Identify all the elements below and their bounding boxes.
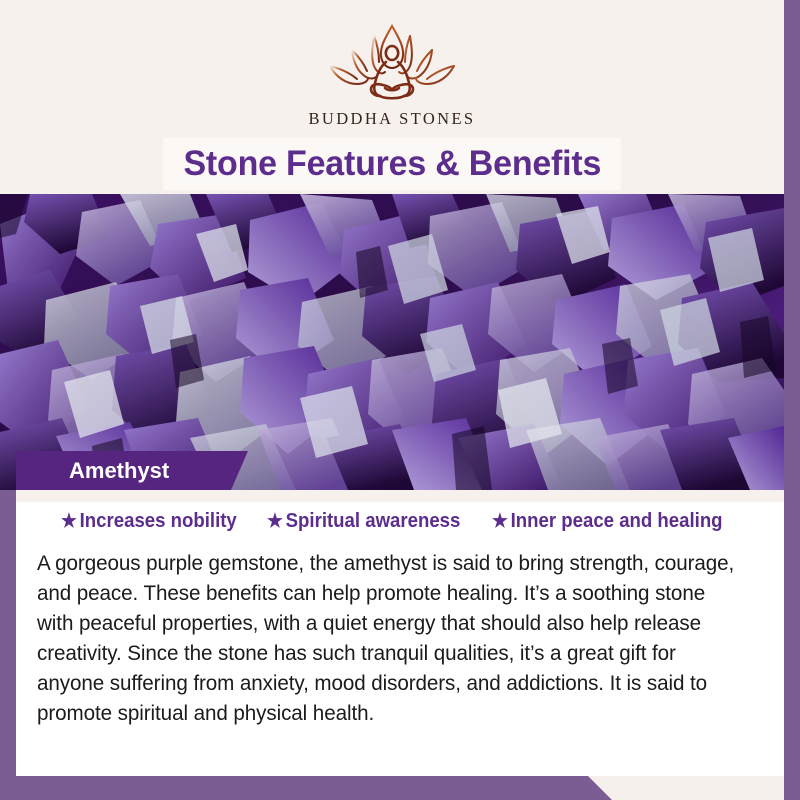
- stone-description: A gorgeous purple gemstone, the amethyst…: [37, 548, 744, 728]
- star-icon: ★: [492, 512, 508, 531]
- star-icon: ★: [61, 512, 77, 531]
- left-accent-bar: [0, 489, 16, 800]
- benefit-label-2: Spiritual awareness: [285, 510, 460, 533]
- benefit-item-3: ★ Inner peace and healing: [492, 510, 723, 533]
- brand-name: BUDDHA STONES: [308, 109, 475, 129]
- header-section: BUDDHA STONES Stone Features & Benefits: [0, 0, 784, 195]
- amethyst-photo: [0, 194, 784, 490]
- title-banner: Stone Features & Benefits: [163, 138, 621, 190]
- page-title: Stone Features & Benefits: [183, 144, 601, 184]
- benefits-list: ★ Increases nobility ★ Spiritual awarene…: [16, 510, 784, 533]
- content-section: ★ Increases nobility ★ Spiritual awarene…: [16, 490, 784, 776]
- brand-logo: BUDDHA STONES: [0, 22, 784, 129]
- bottom-accent-bar: [0, 776, 612, 800]
- right-accent-bar: [784, 17, 800, 800]
- amethyst-crystal-cluster-graphic: [0, 194, 784, 490]
- stone-name-banner: Amethyst: [16, 451, 248, 490]
- infographic-page: BUDDHA STONES Stone Features & Benefits: [0, 0, 800, 800]
- benefit-label-3: Inner peace and healing: [510, 510, 722, 533]
- benefit-item-2: ★ Spiritual awareness: [267, 510, 460, 533]
- stone-name: Amethyst: [69, 458, 169, 484]
- benefit-label-1: Increases nobility: [79, 510, 236, 533]
- content-top-strip: [16, 490, 784, 502]
- lotus-meditation-icon: [317, 22, 467, 108]
- star-icon: ★: [267, 512, 283, 531]
- benefit-item-1: ★ Increases nobility: [61, 510, 237, 533]
